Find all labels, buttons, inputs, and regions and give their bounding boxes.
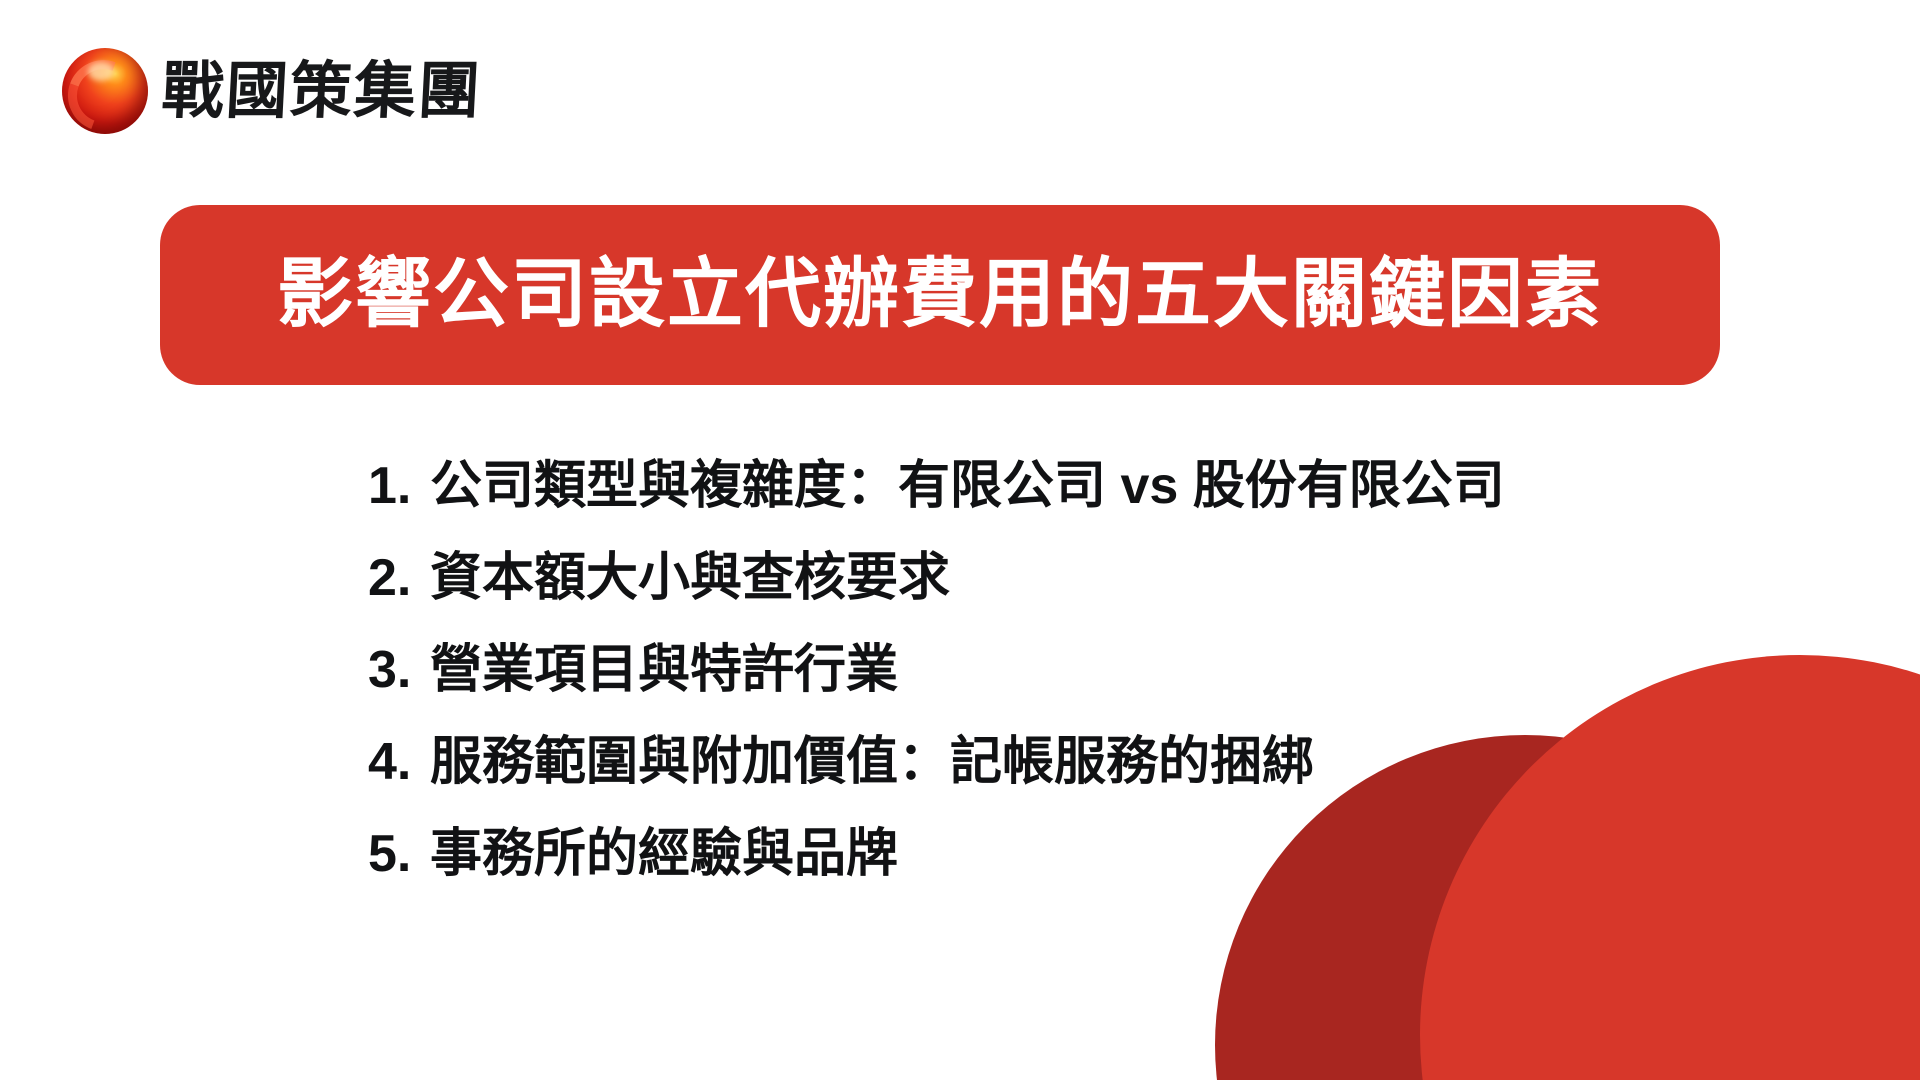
list-item-label: 事務所的經驗與品牌 <box>430 828 898 880</box>
list-item: 1. 公司類型與複雜度：有限公司 vs 股份有限公司 <box>368 460 1788 512</box>
red-sphere-logo-icon <box>62 48 148 134</box>
page-title: 影響公司設立代辦費用的五大關鍵因素 <box>277 253 1603 337</box>
list-item: 2. 資本額大小與查核要求 <box>368 552 1788 604</box>
list-item-label: 服務範圍與附加價值：記帳服務的捆綁 <box>430 736 1314 788</box>
key-factors-list: 1. 公司類型與複雜度：有限公司 vs 股份有限公司 2. 資本額大小與查核要求… <box>368 460 1788 920</box>
list-item-number: 1. <box>368 460 430 512</box>
list-item-label: 資本額大小與查核要求 <box>430 552 950 604</box>
list-item-number: 4. <box>368 736 430 788</box>
list-item-label: 公司類型與複雜度：有限公司 vs 股份有限公司 <box>430 460 1505 512</box>
list-item: 3. 營業項目與特許行業 <box>368 644 1788 696</box>
list-item-number: 3. <box>368 644 430 696</box>
list-item-label: 營業項目與特許行業 <box>430 644 898 696</box>
brand-logo: 戰國策集團 <box>62 48 482 134</box>
brand-logo-text: 戰國策集團 <box>160 60 483 122</box>
list-item: 4. 服務範圍與附加價值：記帳服務的捆綁 <box>368 736 1788 788</box>
title-banner: 影響公司設立代辦費用的五大關鍵因素 <box>160 205 1720 385</box>
slide-canvas: 戰國策集團 影響公司設立代辦費用的五大關鍵因素 1. 公司類型與複雜度：有限公司… <box>0 0 1920 1080</box>
list-item: 5. 事務所的經驗與品牌 <box>368 828 1788 880</box>
list-item-number: 2. <box>368 552 430 604</box>
list-item-number: 5. <box>368 828 430 880</box>
